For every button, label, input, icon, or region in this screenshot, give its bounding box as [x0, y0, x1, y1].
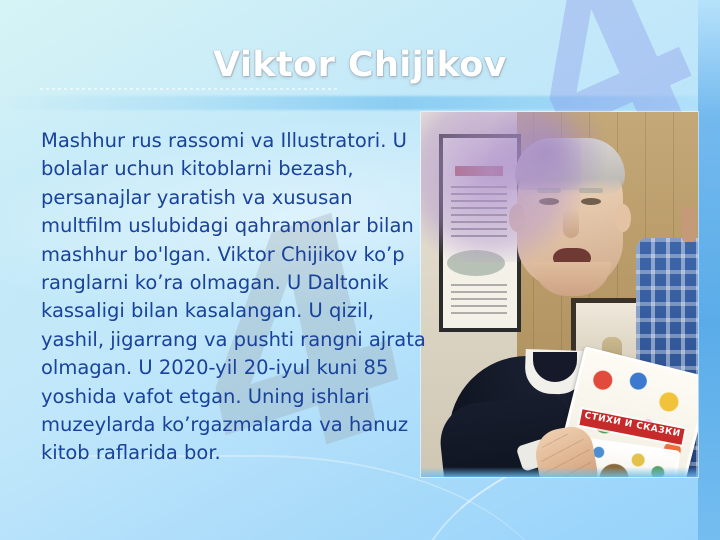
photo-man-eye-right: [581, 198, 601, 205]
photo-violet-overlay-secondary: [487, 112, 607, 190]
photo-man-ear-right: [615, 204, 631, 232]
background-dotted-rule: [40, 88, 340, 90]
background-blue-band: [0, 96, 720, 110]
portrait-photo: СТИХИ И СКАЗКИ: [421, 112, 698, 477]
poster-text-lines-lower: [451, 284, 507, 316]
photo-bystander-skin: [682, 208, 696, 242]
slide-title: Viktor Chijikov: [0, 45, 720, 85]
slide-root: 4 4 Viktor Chijikov Mashhur rus rassomi …: [0, 0, 720, 540]
photo-bottom-fade: [421, 467, 698, 477]
slide-body-text: Mashhur rus rassomi va Illustratori. U b…: [41, 127, 433, 468]
